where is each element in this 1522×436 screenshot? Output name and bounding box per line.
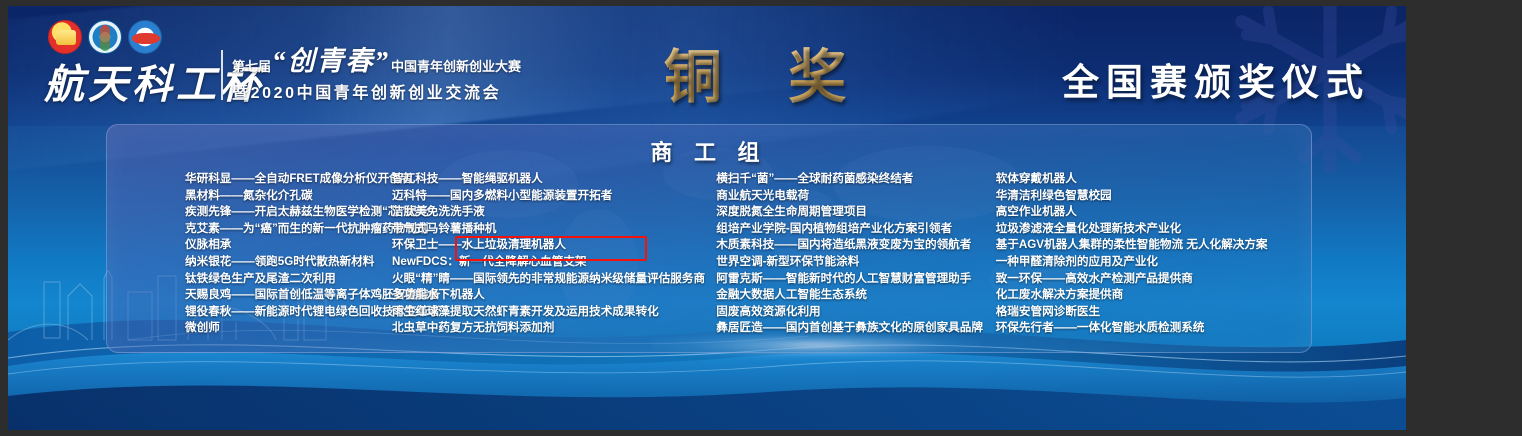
list-item: 黑材料——氮杂化介孔碳	[185, 188, 387, 205]
list-item: 商业航天光电载荷	[716, 188, 995, 205]
list-item: 彝居匠造——国内首创基于彝族文化的原创家具品牌	[716, 320, 995, 337]
list-item: 组培产业学院-国内植物组培产业化方案引领者	[716, 221, 995, 238]
organizer-logos	[48, 20, 162, 54]
list-item: 钛铁绿色生产及尾渣二次利用	[185, 271, 387, 288]
project-column-2: 智兀科技——智能绳驱机器人 迈科特——国内多燃料小型能源装置开拓者 洁肽美免洗洗…	[387, 171, 716, 349]
project-column-4: 软体穿戴机器人 华清洁利绿色智慧校园 高空作业机器人 垃圾渗滤液全量化处理新技术…	[996, 171, 1311, 349]
list-item: 固废高效资源化利用	[716, 304, 995, 321]
list-item: 格瑞安管网诊断医生	[996, 304, 1311, 321]
award-title: 铜 奖	[618, 30, 918, 114]
list-item: 金融大数据人工智能生态系统	[716, 287, 995, 304]
list-item: 纳米银花——领跑5G时代散热新材料	[185, 254, 387, 271]
casic-emblem-icon	[128, 20, 162, 54]
list-item: 一种甲醛清除剂的应用及产业化	[996, 254, 1311, 271]
list-item: 软体穿戴机器人	[996, 171, 1311, 188]
list-item: 木质素科技——国内将造纸黑液变废为宝的领航者	[716, 237, 995, 254]
competition-emblem-icon	[88, 20, 122, 54]
project-list-panel: 商 工 组 华研科显——全自动FRET成像分析仪开创者 黑材料——氮杂化介孔碳 …	[106, 124, 1312, 353]
brand-edition-label: 第七届	[232, 56, 271, 75]
list-item: 华清洁利绿色智慧校园	[996, 188, 1311, 205]
project-column-3: 横扫千“菌”——全球耐药菌感染终结者 商业航天光电载荷 深度脱氮全生命周期管理项…	[716, 171, 995, 349]
screenshot-stage: 航天科工杯 第七届 “创青春” 中国青年创新创业大赛 暨2020中国青年创新创业…	[0, 0, 1522, 436]
list-item: 环保先行者——一体化智能水质检测系统	[996, 320, 1311, 337]
list-item: 化工废水解决方案提供商	[996, 287, 1311, 304]
list-item: 克艾素——为“癌”而生的新一代抗肿瘤药物制剂	[185, 221, 387, 238]
list-item: 垃圾渗滤液全量化处理新技术产业化	[996, 221, 1311, 238]
list-item: 基于AGV机器人集群的柔性智能物流 无人化解决方案	[996, 237, 1311, 254]
list-item: 疾测先锋——开启太赫兹生物医学检测“芯”纪元	[185, 204, 387, 221]
brand-subtitle-block: 第七届 “创青春” 中国青年创新创业大赛 暨2020中国青年创新创业交流会	[232, 48, 521, 103]
ceremony-title: 全国赛颁奖仪式	[1062, 52, 1370, 106]
list-item: 带气式马铃薯播种机	[392, 221, 716, 238]
list-item: 火眼“精”睛——国际领先的非常规能源纳米级储量评估服务商	[392, 271, 716, 288]
list-item: 阿雷克斯——智能新时代的人工智慧财富管理助手	[716, 271, 995, 288]
group-title: 商 工 组	[107, 135, 1311, 167]
list-item: 北虫草中药复方无抗饲料添加剂	[392, 320, 716, 337]
list-item: 华研科显——全自动FRET成像分析仪开创者	[185, 171, 387, 188]
list-item: 智兀科技——智能绳驱机器人	[392, 171, 716, 188]
list-item: 高空作业机器人	[996, 204, 1311, 221]
list-item: 微创师	[185, 320, 387, 337]
list-item: NewFDCS：新一代全降解心血管支架	[392, 254, 716, 271]
youth-league-emblem-icon	[48, 20, 82, 54]
brand-contest-label: 中国青年创新创业大赛	[391, 56, 521, 75]
brand-divider	[221, 50, 223, 100]
brand-secondary-line: 暨2020中国青年创新创业交流会	[232, 79, 521, 103]
brand-main-title: 航天科工杯	[44, 52, 264, 110]
list-item: 致一环保——高效水产检测产品提供商	[996, 271, 1311, 288]
project-column-1: 华研科显——全自动FRET成像分析仪开创者 黑材料——氮杂化介孔碳 疾测先锋——…	[107, 171, 387, 349]
list-item: 洁肽美免洗洗手液	[392, 204, 716, 221]
list-item: 深度脱氮全生命周期管理项目	[716, 204, 995, 221]
brand-script-label: “创青春”	[272, 48, 390, 75]
list-item: 世界空调-新型环保节能涂料	[716, 254, 995, 271]
project-columns: 华研科显——全自动FRET成像分析仪开创者 黑材料——氮杂化介孔碳 疾测先锋——…	[107, 171, 1311, 349]
list-item: 天赐良鸡——国际首创低温等离子体鸡胚智能装备	[185, 287, 387, 304]
list-item: 仪脉相承	[185, 237, 387, 254]
list-item: 雨生红球藻提取天然虾青素开发及运用技术成果转化	[392, 304, 716, 321]
list-item: 多功能水下机器人	[392, 287, 716, 304]
list-item: 横扫千“菌”——全球耐药菌感染终结者	[716, 171, 995, 188]
list-item: 锂役春秋——新能源时代锂电绿色回收技术变革者	[185, 304, 387, 321]
list-item-highlighted: 环保卫士——水上垃圾清理机器人	[392, 237, 716, 254]
list-item: 迈科特——国内多燃料小型能源装置开拓者	[392, 188, 716, 205]
award-banner: 航天科工杯 第七届 “创青春” 中国青年创新创业大赛 暨2020中国青年创新创业…	[8, 6, 1406, 430]
